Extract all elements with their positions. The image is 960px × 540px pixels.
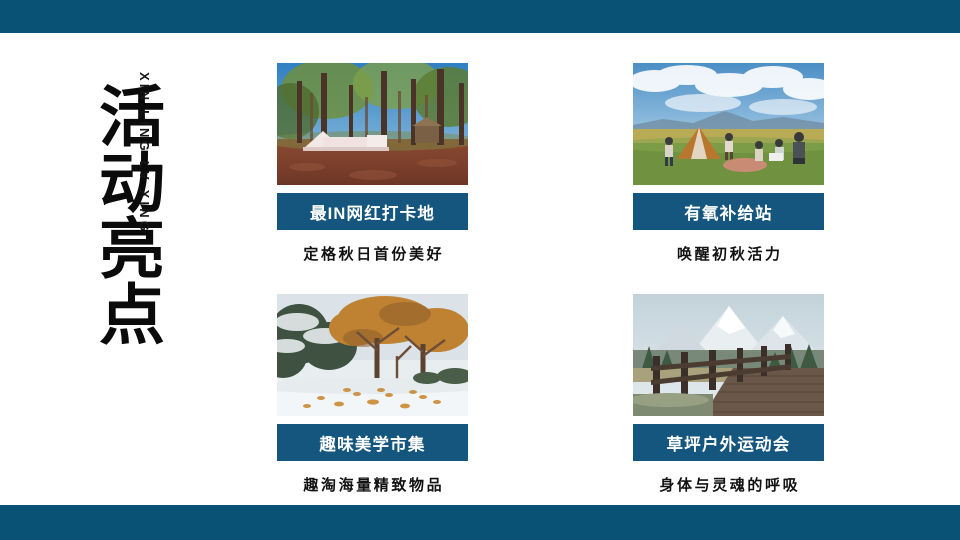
highlight-card-label: 最IN网红打卡地 — [277, 193, 468, 230]
top-accent-band — [0, 0, 960, 33]
highlight-card-grid: 最IN网红打卡地 定格秋日首份美好 — [277, 63, 823, 500]
highlight-card-caption: 定格秋日首份美好 — [277, 243, 468, 264]
highlight-card-label: 草坪户外运动会 — [633, 424, 824, 461]
bottom-accent-band — [0, 505, 960, 540]
highlight-card-label: 有氧补给站 — [633, 193, 824, 230]
autumn-forest-camp-photo — [277, 63, 468, 185]
highlight-card[interactable]: 草坪户外运动会 身体与灵魂的呼吸 — [633, 294, 824, 495]
highlight-card-caption: 趣淘海量精致物品 — [277, 474, 468, 495]
snowy-park-autumn-leaves-photo — [277, 294, 468, 416]
meadow-tent-picnic-photo — [633, 63, 824, 185]
mountain-boardwalk-photo — [633, 294, 824, 416]
highlight-card-caption: 唤醒初秋活力 — [633, 243, 824, 264]
highlight-card-caption: 身体与灵魂的呼吸 — [633, 474, 824, 495]
highlight-card[interactable]: 有氧补给站 唤醒初秋活力 — [633, 63, 824, 264]
highlight-card[interactable]: 最IN网红打卡地 定格秋日首份美好 — [277, 63, 468, 264]
title-block: 活动亮点 XIN LING LV XING — [40, 60, 220, 410]
highlight-card[interactable]: 趣味美学市集 趣淘海量精致物品 — [277, 294, 468, 495]
slide-canvas: 活动亮点 XIN LING LV XING — [0, 0, 960, 540]
highlight-card-label: 趣味美学市集 — [277, 424, 468, 461]
page-title-pinyin: XIN LING LV XING — [137, 72, 152, 234]
